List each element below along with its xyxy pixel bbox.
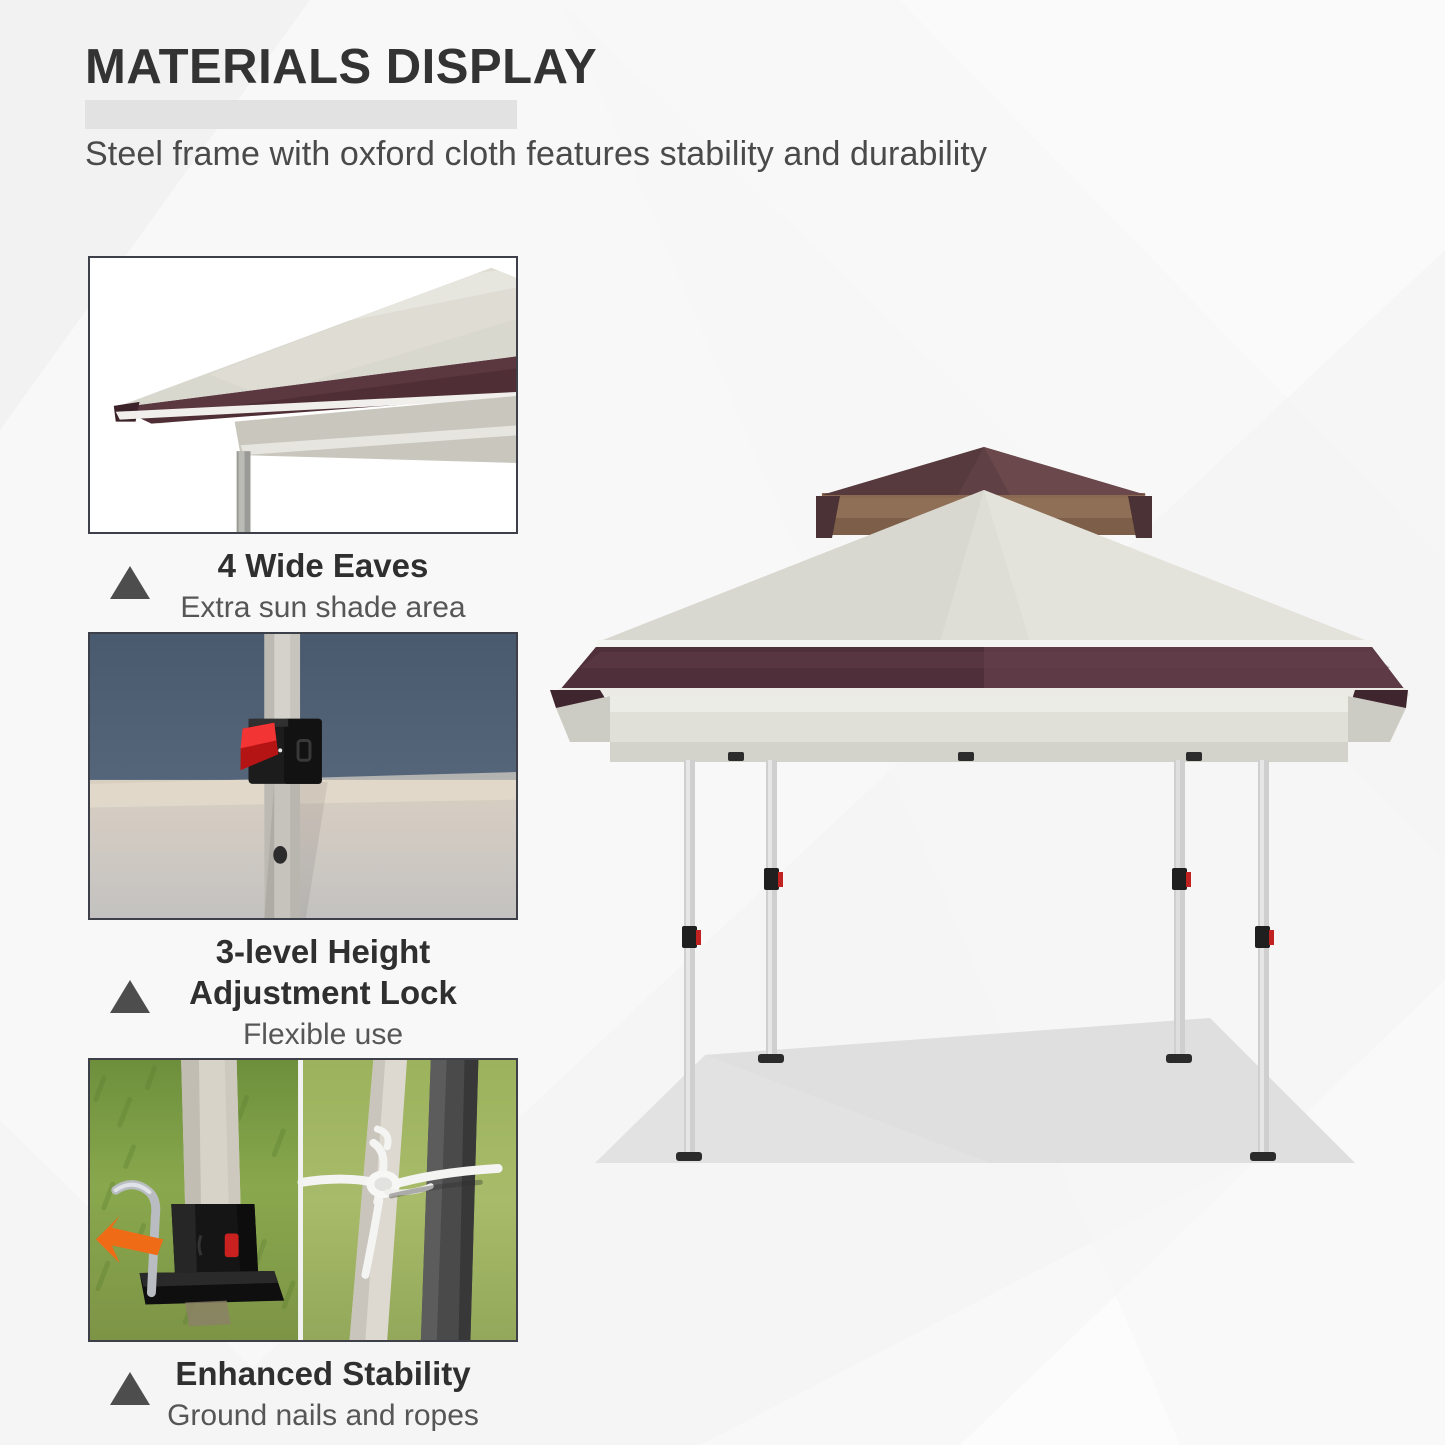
feature-card-wide-eaves: 4 Wide Eaves Extra sun shade area [88,256,518,627]
thumbnail-height-lock[interactable] [88,632,518,920]
feature-title: 4 Wide Eaves [128,546,518,587]
feature-title: Enhanced Stability [128,1354,518,1395]
triangle-bullet-icon [110,1372,150,1405]
feature-title-line2: Adjustment Lock [128,973,518,1014]
caption-stability: Enhanced Stability Ground nails and rope… [88,1354,518,1435]
product-image-gazebo [510,390,1445,1220]
thumbnail-canopy-eave[interactable] [88,256,518,534]
feature-card-height-lock: 3-level Height Adjustment Lock Flexible … [88,632,518,1054]
feature-card-stability: Enhanced Stability Ground nails and rope… [88,1058,518,1435]
page-title: MATERIALS DISPLAY [85,42,597,93]
feature-title-line1: 3-level Height [128,932,518,973]
feature-subtitle: Ground nails and ropes [128,1397,518,1435]
triangle-bullet-icon [110,566,150,599]
feature-subtitle: Flexible use [128,1016,518,1054]
triangle-bullet-icon [110,980,150,1013]
header: MATERIALS DISPLAY Steel frame with oxfor… [85,42,987,174]
caption-height-lock: 3-level Height Adjustment Lock Flexible … [88,932,518,1054]
thumbnail-stability[interactable] [88,1058,518,1342]
caption-wide-eaves: 4 Wide Eaves Extra sun shade area [88,546,518,627]
feature-subtitle: Extra sun shade area [128,589,518,627]
page-subtitle: Steel frame with oxford cloth features s… [85,135,987,174]
page-title-wrap: MATERIALS DISPLAY [85,42,597,93]
title-highlight-bar [85,100,517,129]
